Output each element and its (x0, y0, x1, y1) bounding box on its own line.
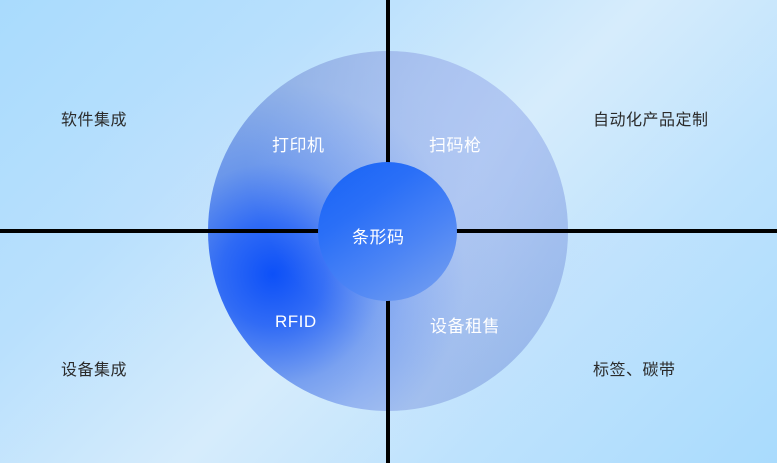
ring-label-rfid[interactable]: RFID (275, 312, 317, 332)
ring-label-printer[interactable]: 打印机 (272, 131, 325, 156)
ring-label-equipment-rental[interactable]: 设备租售 (430, 312, 500, 337)
ring-label-scanner[interactable]: 扫码枪 (429, 131, 482, 156)
center-label-barcode[interactable]: 条形码 (352, 223, 405, 248)
corner-label-automation-customization[interactable]: 自动化产品定制 (593, 106, 709, 130)
diagram-canvas: 打印机 扫码枪 RFID 设备租售 条形码 软件集成 自动化产品定制 设备集成 … (0, 0, 777, 463)
corner-label-software-integration[interactable]: 软件集成 (61, 106, 127, 130)
corner-label-labels-ribbons[interactable]: 标签、碳带 (593, 356, 676, 380)
corner-label-equipment-integration[interactable]: 设备集成 (61, 356, 127, 380)
